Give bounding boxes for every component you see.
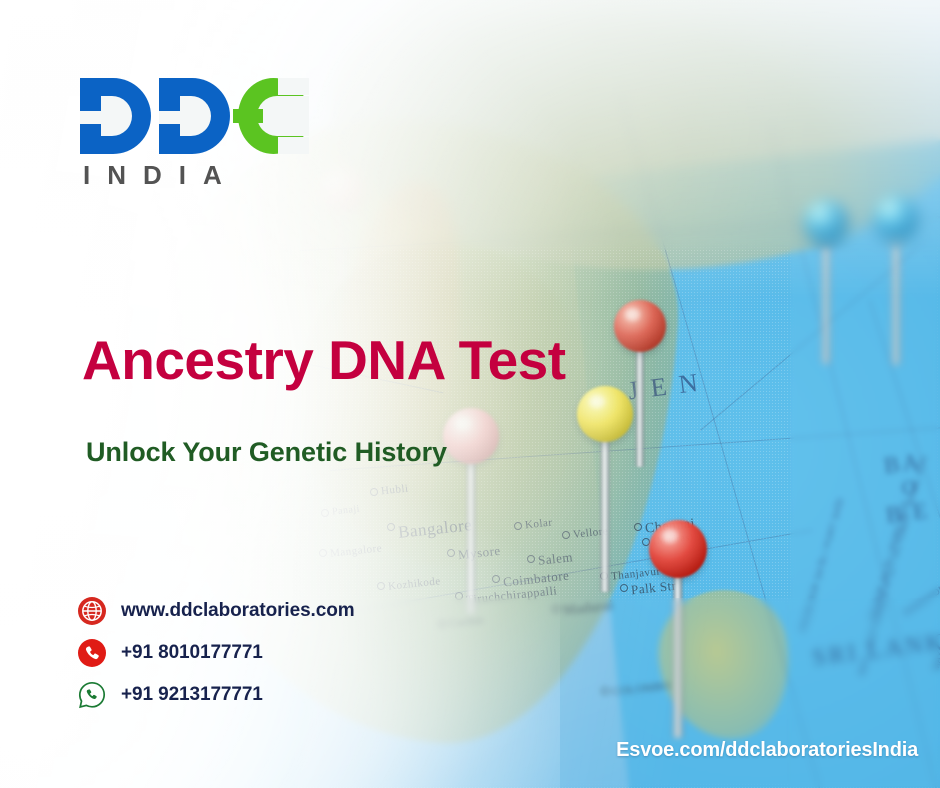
whatsapp-icon [78,681,106,709]
page-subtitle: Unlock Your Genetic History [86,437,447,468]
contact-row-website[interactable]: www.ddclaboratories.com [78,592,355,630]
phone-label: +91 8010177771 [121,642,263,664]
whatsapp-label: +91 9213177771 [121,684,263,706]
page-title: Ancestry DNA Test [82,333,566,388]
footer-watermark: Esvoe.com/ddclaboratoriesIndia [616,739,918,762]
contact-list: www.ddclaboratories.com +91 8010177771 [78,592,355,718]
logo-letters [80,78,309,154]
ddc-india-logo: INDIA [80,78,309,188]
phone-icon [78,639,106,667]
logo-letter-c [238,78,309,154]
poster-content: INDIA Ancestry DNA Test Unlock Your Gene… [0,0,940,788]
logo-subtext: INDIA [83,162,309,188]
globe-icon [78,597,106,625]
contact-row-phone[interactable]: +91 8010177771 [78,634,355,672]
website-label: www.ddclaboratories.com [121,600,355,622]
logo-letter-d-2 [159,78,230,154]
ancestry-dna-poster: HubliBangaloreMysoreKolarVelloreSalemCoi… [0,0,940,788]
logo-letter-d-1 [80,78,151,154]
contact-row-whatsapp[interactable]: +91 9213177771 [78,676,355,714]
